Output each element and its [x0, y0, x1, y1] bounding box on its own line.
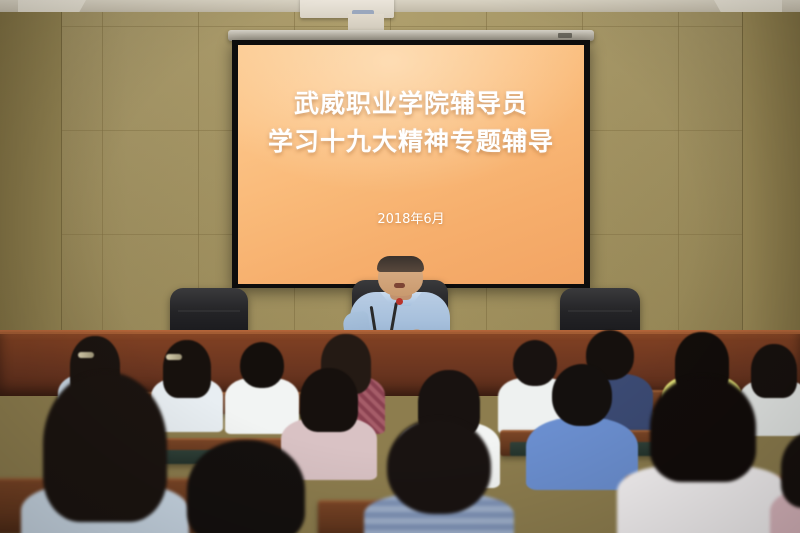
- attendee-hair: [781, 430, 800, 508]
- attendee-head: [387, 418, 491, 514]
- attendee-body: [526, 418, 638, 490]
- list-item: [186, 440, 306, 533]
- wall-right-column: [742, 12, 800, 372]
- list-item: [534, 364, 630, 476]
- list-item: [778, 430, 800, 533]
- wall-left-column: [0, 12, 62, 372]
- list-item: BG RED LABEL: [628, 410, 778, 533]
- hair-clip-icon: [78, 352, 94, 358]
- attendee-hair: [43, 372, 167, 522]
- list-item: [374, 418, 504, 533]
- hair-clip-icon: [166, 354, 182, 360]
- attendee-hair: [751, 344, 797, 398]
- speaker-mouth: [394, 283, 405, 288]
- list-item: [30, 372, 180, 533]
- microphone-head-icon: [396, 298, 403, 305]
- attendee-head: [240, 342, 284, 388]
- roller-knob-icon: [558, 33, 572, 38]
- speaker-hair: [377, 256, 424, 272]
- lecture-hall-photo: 武威职业学院辅导员 学习十九大精神专题辅导 2018年6月: [0, 0, 800, 533]
- attendee-hair: [187, 440, 305, 533]
- attendee-hair: [300, 368, 358, 432]
- slide-title-line1: 武威职业学院辅导员: [238, 85, 584, 123]
- projection-screen: 武威职业学院辅导员 学习十九大精神专题辅导 2018年6月: [232, 40, 590, 288]
- screen-surface: 武威职业学院辅导员 学习十九大精神专题辅导 2018年6月: [238, 45, 584, 284]
- slide-title-line2: 学习十九大精神专题辅导: [238, 123, 584, 161]
- slide-date: 2018年6月: [238, 208, 584, 227]
- attendee-hair: [650, 376, 756, 482]
- attendee-head: [552, 364, 612, 426]
- slide-title: 武威职业学院辅导员 学习十九大精神专题辅导: [238, 85, 584, 161]
